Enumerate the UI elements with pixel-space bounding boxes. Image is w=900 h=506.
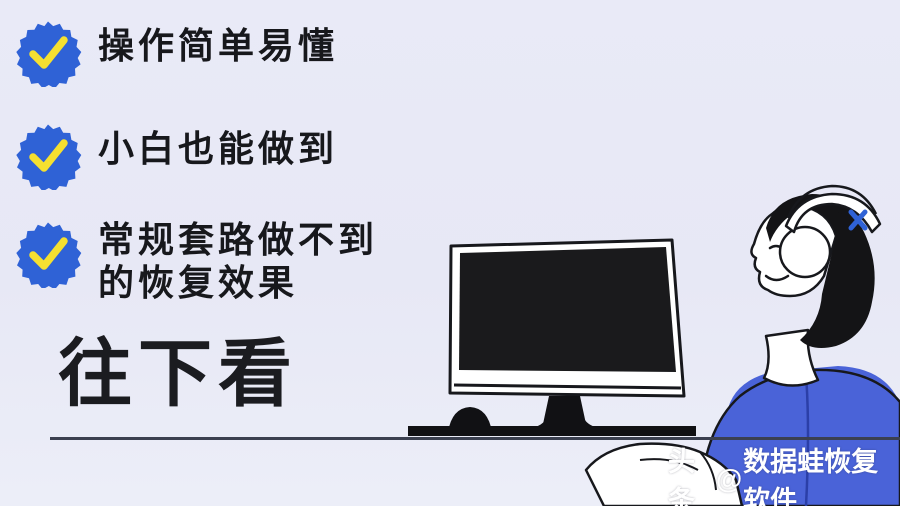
blue-check-badge-icon (14, 220, 82, 288)
bullet-item-3: 常规套路做不到 的恢复效果 (14, 218, 378, 304)
computer-monitor-graphic (450, 240, 684, 432)
bullet-line: 的恢复效果 (98, 261, 378, 304)
bullet-item-2: 小白也能做到 (14, 120, 338, 190)
bullet-item-1-text: 操作简单易懂 (98, 17, 338, 66)
headline-text: 往下看 (58, 334, 298, 414)
bullet-item-3-text: 常规套路做不到 的恢复效果 (98, 218, 378, 304)
poster-canvas: 操作简单易懂 小白也能做到 常规套路做不到 (0, 0, 900, 506)
blue-check-badge-icon (14, 122, 82, 190)
desk-slab-graphic (408, 426, 696, 436)
bullet-item-2-text: 小白也能做到 (98, 120, 338, 169)
desk-surface-line (50, 437, 900, 440)
bullet-line: 操作简单易懂 (98, 26, 338, 66)
bullet-line: 常规套路做不到 (98, 218, 378, 261)
bullet-line: 小白也能做到 (98, 129, 338, 169)
bullet-item-1: 操作简单易懂 (14, 17, 338, 87)
blue-check-badge-icon (14, 19, 82, 87)
